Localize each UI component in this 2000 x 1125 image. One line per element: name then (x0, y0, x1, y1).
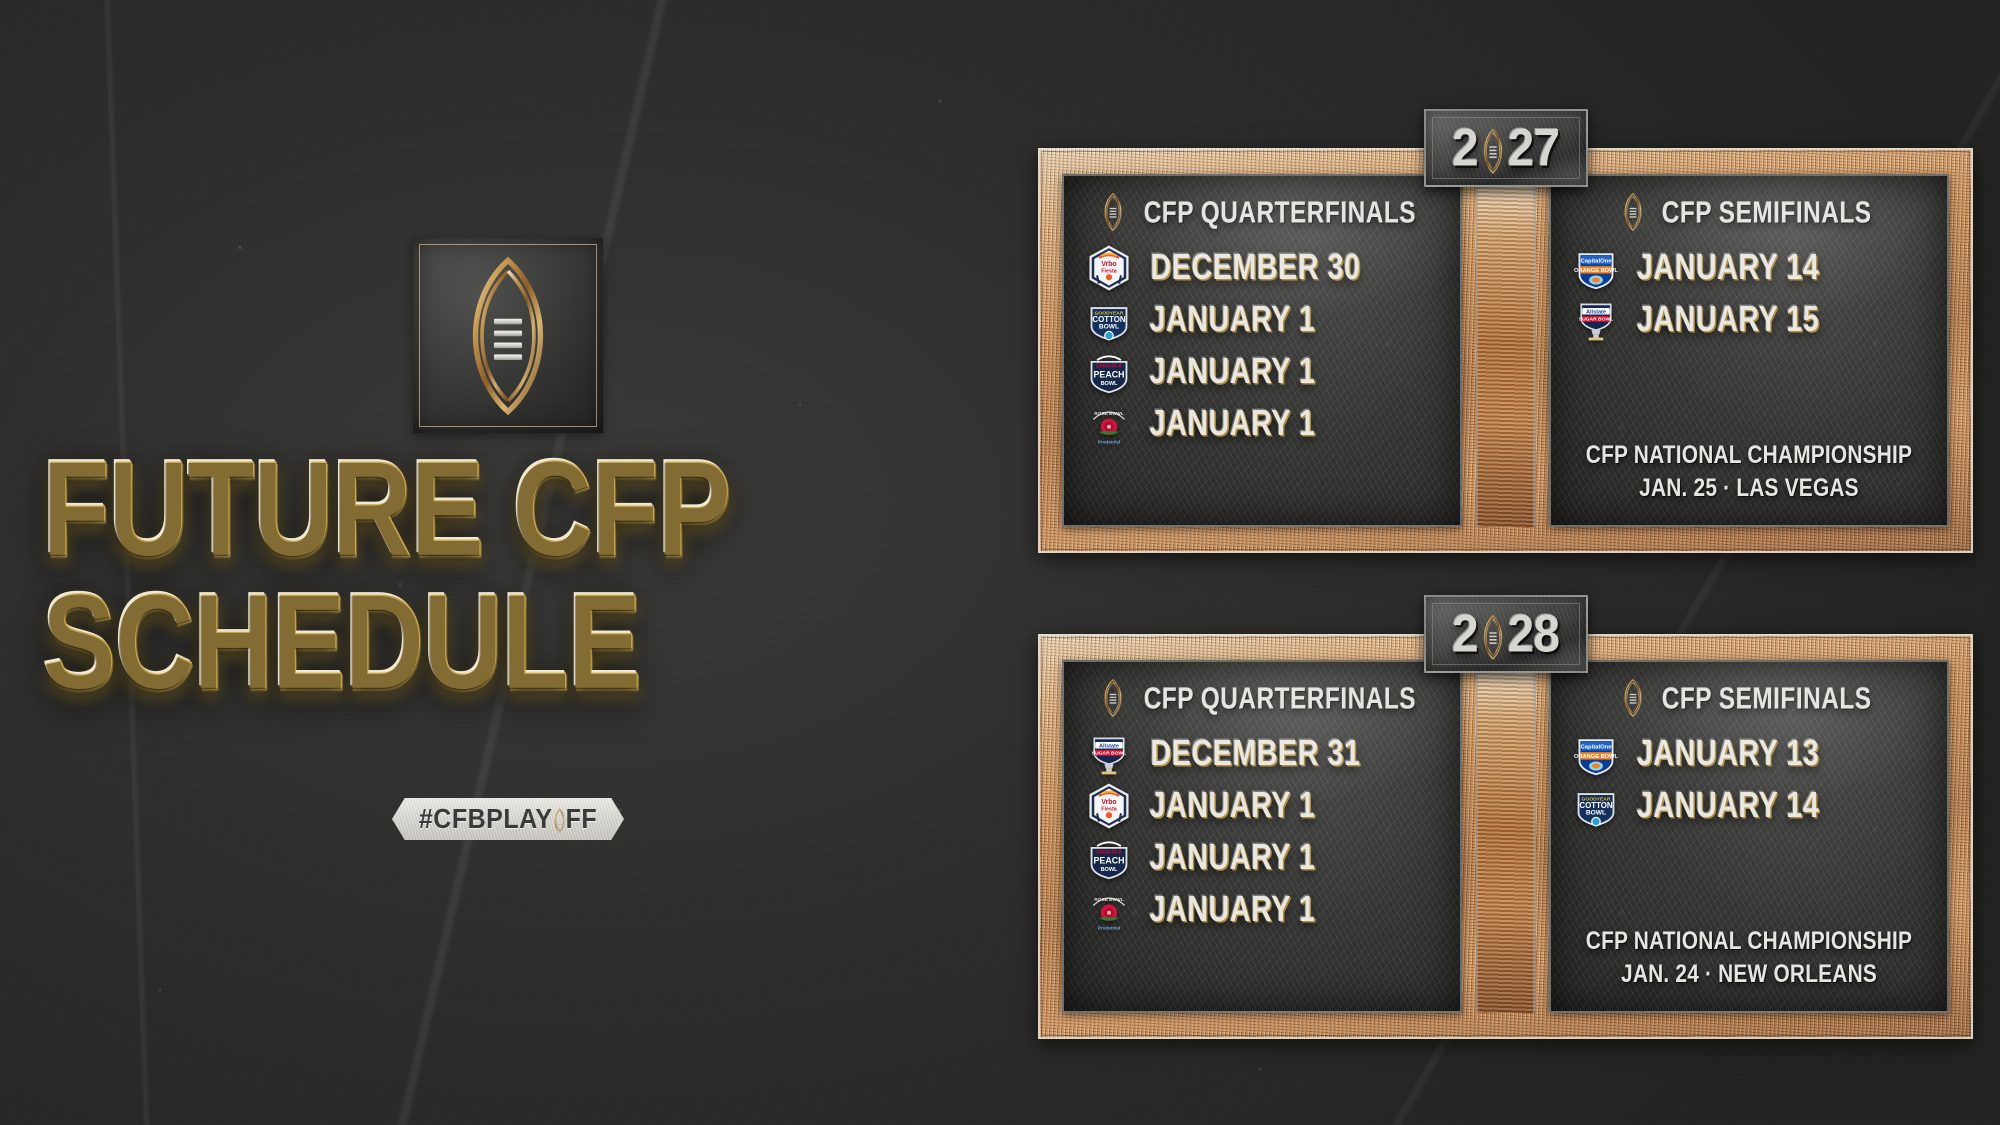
hashtag-suffix: FF (566, 803, 598, 835)
football-zero-icon (1479, 608, 1507, 665)
poster-background: FUTURE CFP SCHEDULE #CFBPLAY FF 2 2 (0, 0, 2000, 1125)
title-column: FUTURE CFP SCHEDULE #CFBPLAY FF (0, 0, 1000, 1125)
game-date: JANUARY 1 (1149, 838, 1315, 879)
football-o-icon (552, 806, 567, 834)
national-championship-info: CFP NATIONAL CHAMPIONSHIP JAN. 24 · NEW … (1561, 928, 1937, 987)
headline-line-1: FUTURE CFP (42, 452, 1017, 566)
svg-text:Chick-fil-A: Chick-fil-A (1096, 849, 1122, 855)
game-row: Chick-fil-A PEACH BOWL JANUARY 1 (1086, 346, 1446, 398)
svg-text:Fiesta: Fiesta (1101, 807, 1116, 813)
game-date: JANUARY 13 (1637, 734, 1819, 775)
svg-text:COTTON: COTTON (1579, 801, 1613, 810)
panel-heading: CFP QUARTERFINALS (1064, 192, 1460, 232)
game-list: CapitalOne ORANGE BOWL JANUARY 14 (1573, 242, 1933, 346)
game-date: JANUARY 1 (1149, 300, 1315, 341)
orange-bowl-logo: CapitalOne ORANGE BOWL (1573, 731, 1619, 777)
schedule-column: 2 2 7 CFP QUARTERFINALS (1020, 0, 2000, 1125)
game-date: DECEMBER 30 (1150, 248, 1360, 289)
fiesta-bowl-logo: Vrbo Fiesta (1086, 783, 1132, 829)
panel-heading-label: CFP QUARTERFINALS (1143, 194, 1415, 230)
game-row: CapitalOne ORANGE BOWL JANUARY 14 (1573, 242, 1933, 294)
svg-text:Fiesta: Fiesta (1101, 269, 1116, 275)
championship-title: CFP NATIONAL CHAMPIONSHIP (1570, 926, 1927, 956)
year-digit-4: 8 (1533, 604, 1559, 665)
game-row: ROSE BOWL Prudential JANUARY 1 (1086, 398, 1446, 450)
game-date: DECEMBER 31 (1150, 734, 1360, 775)
svg-text:PEACH: PEACH (1094, 370, 1125, 380)
peach-bowl-logo: Chick-fil-A PEACH BOWL (1086, 349, 1132, 395)
hashtag-prefix: #CFBPLAY (419, 803, 553, 835)
game-row: Vrbo Fiesta DECEMBER 30 (1086, 242, 1446, 294)
panel-heading-label: CFP SEMIFINALS (1662, 680, 1872, 716)
game-row: Chick-fil-A PEACH BOWL JANUARY 1 (1086, 832, 1446, 884)
rose-bowl-logo: ROSE BOWL Prudential (1086, 887, 1132, 933)
game-row: GOODYEAR COTTON BOWL JANUARY 14 (1573, 780, 1933, 832)
game-row: ROSE BOWL Prudential JANUARY 1 (1086, 884, 1446, 936)
game-list: Vrbo Fiesta DECEMBER 30 GO (1086, 242, 1446, 450)
svg-text:Prudential: Prudential (1098, 925, 1120, 930)
peach-bowl-logo: Chick-fil-A PEACH BOWL (1086, 835, 1132, 881)
panel-quarterfinals-2027: CFP QUARTERFINALS Vrbo Fiesta (1062, 174, 1462, 527)
svg-text:ORANGE BOWL: ORANGE BOWL (1574, 754, 1618, 760)
svg-text:ROSE BOWL: ROSE BOWL (1094, 411, 1123, 417)
panel-heading: CFP SEMIFINALS (1551, 678, 1947, 718)
panel-quarterfinals-2028: CFP QUARTERFINALS Allstate SUGAR BOWL (1062, 660, 1462, 1013)
year-badge-2027: 2 2 7 (1424, 109, 1588, 187)
game-date: JANUARY 14 (1637, 248, 1819, 289)
championship-detail: JAN. 25 · LAS VEGAS (1570, 473, 1927, 503)
svg-text:BOWL: BOWL (1586, 810, 1606, 817)
cfp-football-icon (1620, 678, 1646, 718)
panel-semifinals-2028: CFP SEMIFINALS CapitalOne ORANGE BOWL (1549, 660, 1949, 1013)
sugar-bowl-logo: Allstate SUGAR BOWL (1086, 731, 1132, 777)
championship-detail: JAN. 24 · NEW ORLEANS (1570, 959, 1927, 989)
year-digit-1: 2 (1452, 118, 1478, 179)
headline-line-2: SCHEDULE (42, 585, 1017, 699)
panel-semifinals-2027: CFP SEMIFINALS CapitalOne ORANGE BOWL (1549, 174, 1949, 527)
game-date: JANUARY 1 (1149, 786, 1315, 827)
svg-text:ROSE BOWL: ROSE BOWL (1094, 897, 1123, 903)
football-zero-icon (1479, 122, 1507, 179)
cfp-football-icon (1620, 192, 1646, 232)
svg-text:SUGAR BOWL: SUGAR BOWL (1579, 317, 1613, 323)
year-digit-4: 7 (1533, 118, 1559, 179)
svg-text:Allstate: Allstate (1586, 309, 1606, 315)
orange-bowl-logo: CapitalOne ORANGE BOWL (1573, 245, 1619, 291)
svg-text:BOWL: BOWL (1101, 381, 1118, 387)
game-row: Allstate SUGAR BOWL DECEMBER 31 (1086, 728, 1446, 780)
game-row: Allstate SUGAR BOWL JANUARY 15 (1573, 294, 1933, 346)
cfp-football-icon (1100, 192, 1126, 232)
fiesta-bowl-logo: Vrbo Fiesta (1086, 245, 1132, 291)
rose-bowl-logo: ROSE BOWL Prudential (1086, 401, 1132, 447)
svg-text:Prudential: Prudential (1098, 439, 1120, 444)
championship-title: CFP NATIONAL CHAMPIONSHIP (1570, 440, 1927, 470)
year-digit-3: 2 (1508, 604, 1534, 665)
svg-text:ORANGE BOWL: ORANGE BOWL (1574, 268, 1618, 274)
svg-text:BOWL: BOWL (1099, 324, 1119, 331)
game-date: JANUARY 15 (1637, 300, 1819, 341)
hashtag-ribbon: #CFBPLAY FF (392, 798, 624, 840)
year-badge-text: 2 2 8 (1452, 604, 1559, 665)
year-digit-1: 2 (1452, 604, 1478, 665)
svg-text:Vrbo: Vrbo (1101, 261, 1116, 268)
panel-heading: CFP QUARTERFINALS (1064, 678, 1460, 718)
svg-text:Vrbo: Vrbo (1101, 799, 1116, 806)
game-list: Allstate SUGAR BOWL DECEMBER 31 (1086, 728, 1446, 936)
sugar-bowl-logo: Allstate SUGAR BOWL (1573, 297, 1619, 343)
panel-heading: CFP SEMIFINALS (1551, 192, 1947, 232)
page-title: FUTURE CFP SCHEDULE (42, 452, 962, 673)
national-championship-info: CFP NATIONAL CHAMPIONSHIP JAN. 25 · LAS … (1561, 442, 1937, 501)
panel-heading-label: CFP SEMIFINALS (1662, 194, 1872, 230)
game-row: CapitalOne ORANGE BOWL JANUARY 13 (1573, 728, 1933, 780)
center-divider (1476, 174, 1536, 527)
year-digit-3: 2 (1508, 118, 1534, 179)
game-date: JANUARY 1 (1149, 404, 1315, 445)
cotton-bowl-logo: GOODYEAR COTTON BOWL (1086, 297, 1132, 343)
svg-text:COTTON: COTTON (1092, 315, 1126, 324)
year-badge-text: 2 2 7 (1452, 118, 1559, 179)
svg-text:CapitalOne: CapitalOne (1580, 744, 1612, 750)
game-date: JANUARY 1 (1149, 352, 1315, 393)
cfp-football-icon (1100, 678, 1126, 718)
game-row: GOODYEAR COTTON BOWL JANUARY 1 (1086, 294, 1446, 346)
hashtag-text: #CFBPLAY FF (419, 803, 597, 835)
cotton-bowl-logo: GOODYEAR COTTON BOWL (1573, 783, 1619, 829)
svg-text:PEACH: PEACH (1094, 856, 1125, 866)
game-row: Vrbo Fiesta JANUARY 1 (1086, 780, 1446, 832)
year-block-2028: 2 2 8 CFP QUARTERFINALS (1038, 634, 1973, 1039)
svg-text:Chick-fil-A: Chick-fil-A (1096, 363, 1122, 369)
cfp-football-logo (452, 256, 564, 416)
svg-text:Allstate: Allstate (1099, 743, 1119, 749)
svg-text:SUGAR BOWL: SUGAR BOWL (1092, 751, 1126, 757)
game-list: CapitalOne ORANGE BOWL JANUARY 13 (1573, 728, 1933, 832)
center-divider (1476, 660, 1536, 1013)
year-block-2027: 2 2 7 CFP QUARTERFINALS (1038, 148, 1973, 553)
svg-text:BOWL: BOWL (1101, 867, 1118, 873)
svg-text:CapitalOne: CapitalOne (1580, 258, 1612, 264)
game-date: JANUARY 1 (1149, 890, 1315, 931)
panel-heading-label: CFP QUARTERFINALS (1143, 680, 1415, 716)
year-badge-2028: 2 2 8 (1424, 595, 1588, 673)
cfp-logo-plaque (413, 238, 603, 433)
game-date: JANUARY 14 (1637, 786, 1819, 827)
